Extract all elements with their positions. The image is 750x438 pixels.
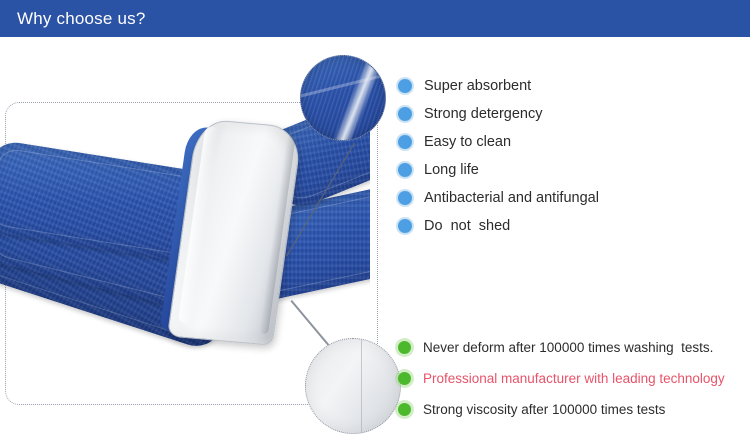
list-item: Do not shed	[398, 212, 742, 240]
feature-list-secondary: Never deform after 100000 times washing …	[398, 332, 746, 425]
page-title: Why choose us?	[17, 9, 145, 29]
bullet-green-icon	[398, 341, 411, 354]
white-fabric-zoom-callout	[305, 338, 401, 434]
feature-label: Long life	[424, 163, 479, 178]
bullet-blue-icon	[398, 107, 412, 121]
feature-label-highlighted: Professional manufacturer with leading t…	[423, 372, 725, 386]
bullet-blue-icon	[398, 79, 412, 93]
bullet-blue-icon	[398, 163, 412, 177]
list-item: Antibacterial and antifungal	[398, 184, 742, 212]
fabric-seam-line	[361, 339, 362, 434]
bullet-green-icon	[398, 403, 411, 416]
feature-list-primary: Super absorbent Strong detergency Easy t…	[398, 72, 742, 240]
header-bar: Why choose us?	[0, 0, 750, 37]
feature-label: Strong viscosity after 100000 times test…	[423, 403, 665, 417]
list-item: Strong viscosity after 100000 times test…	[398, 394, 746, 425]
feature-label: Never deform after 100000 times washing …	[423, 341, 713, 355]
bullet-green-icon	[398, 372, 411, 385]
list-item: Super absorbent	[398, 72, 742, 100]
why-choose-us-banner: Why choose us? Super absorbent Strong de…	[0, 0, 750, 438]
bullet-blue-icon	[398, 135, 412, 149]
feature-label: Super absorbent	[424, 79, 531, 94]
feature-label: Antibacterial and antifungal	[424, 191, 599, 206]
list-item: Never deform after 100000 times washing …	[398, 332, 746, 363]
feature-label: Easy to clean	[424, 135, 511, 150]
list-item: Professional manufacturer with leading t…	[398, 363, 746, 394]
list-item: Easy to clean	[398, 128, 742, 156]
blue-fabric-zoom-callout	[300, 55, 386, 141]
feature-label: Do not shed	[424, 219, 510, 234]
list-item: Long life	[398, 156, 742, 184]
bullet-blue-icon	[398, 191, 412, 205]
list-item: Strong detergency	[398, 100, 742, 128]
bullet-blue-icon	[398, 219, 412, 233]
feature-label: Strong detergency	[424, 107, 543, 122]
